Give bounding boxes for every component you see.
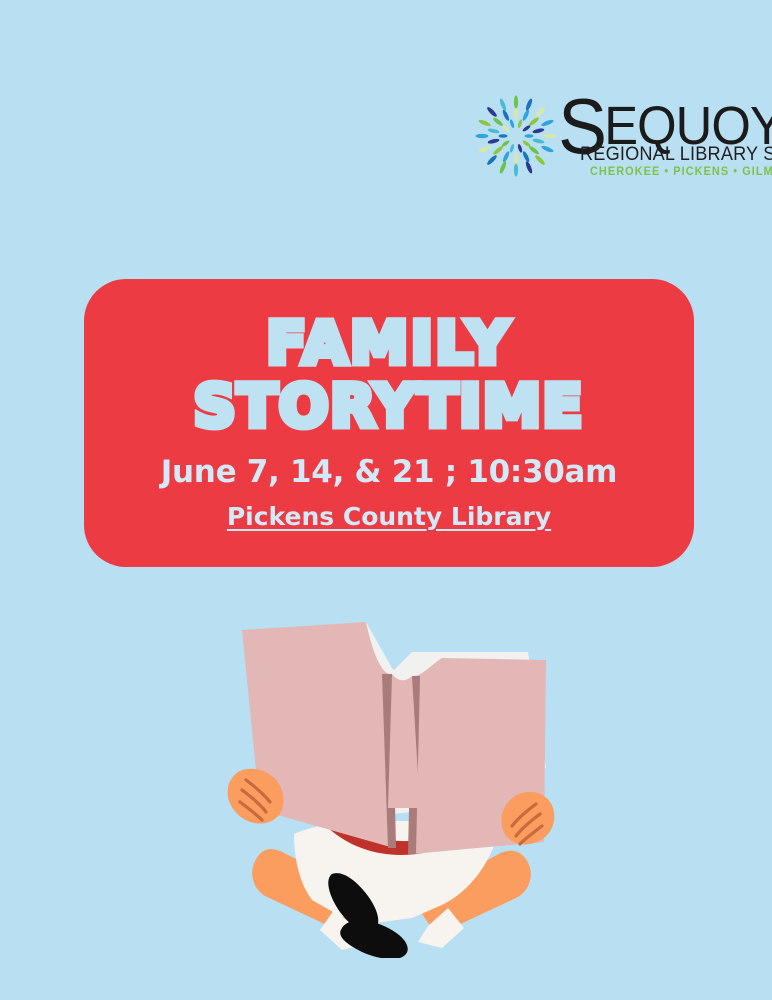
event-venue-link[interactable]: Pickens County Library <box>84 502 694 532</box>
burst-petal <box>476 134 489 138</box>
burst-petal <box>525 161 534 175</box>
child-reading-illustration <box>216 608 568 958</box>
burst-petal <box>514 107 518 119</box>
event-date-time: June 7, 14, & 21 ; 10:30am <box>84 454 694 490</box>
burst-petal <box>492 116 504 127</box>
burst-petal <box>514 164 518 177</box>
burst-petal <box>478 119 492 128</box>
burst-petal <box>517 144 523 154</box>
burst-petal <box>544 134 557 138</box>
burst-petal <box>492 145 504 156</box>
poster-canvas: SEQUOYAH REGIONAL LIBRARY SYSTEM CHEROKE… <box>0 0 772 1000</box>
burst-petal <box>528 145 540 156</box>
burst-petal <box>486 154 498 166</box>
burst-petal <box>541 119 555 128</box>
burst-petal <box>541 145 555 154</box>
burst-petal <box>487 128 500 135</box>
burst-petal <box>528 116 540 127</box>
burst-petal <box>509 144 515 154</box>
event-title-line-2: STORYTIME <box>84 376 694 436</box>
burst-petal <box>532 127 545 134</box>
logo-wordmark: SEQUOYAH REGIONAL LIBRARY SYSTEM CHEROKE… <box>560 90 760 186</box>
event-banner-content: FAMILY STORYTIME June 7, 14, & 21 ; 10:3… <box>84 313 694 532</box>
burst-petal <box>522 109 531 122</box>
burst-petal <box>486 106 498 118</box>
burst-petal <box>509 119 515 129</box>
burst-petal <box>532 138 545 145</box>
burst-petal <box>534 154 546 166</box>
burst-petal <box>525 98 534 112</box>
burst-petal <box>478 145 492 154</box>
burst-petal <box>522 150 531 163</box>
burst-petal <box>499 161 508 175</box>
event-banner: FAMILY STORYTIME June 7, 14, & 21 ; 10:3… <box>84 279 694 567</box>
burst-petal <box>502 150 511 163</box>
burst-petal <box>487 138 500 145</box>
burst-petal <box>499 134 508 137</box>
event-title-line-1: FAMILY <box>84 313 694 373</box>
burst-petal <box>502 109 511 122</box>
burst-petal <box>499 98 508 112</box>
burst-petal <box>525 134 534 137</box>
library-logo: SEQUOYAH REGIONAL LIBRARY SYSTEM CHEROKE… <box>468 88 760 188</box>
burst-petal <box>514 96 518 109</box>
sequoyah-burst-icon <box>468 88 564 184</box>
logo-subtitle: REGIONAL LIBRARY SYSTEM <box>580 144 772 164</box>
burst-petal <box>534 106 546 118</box>
burst-petal <box>514 153 518 165</box>
burst-petal <box>517 119 523 129</box>
logo-counties: CHEROKEE • PICKENS • GILMER <box>590 166 772 178</box>
